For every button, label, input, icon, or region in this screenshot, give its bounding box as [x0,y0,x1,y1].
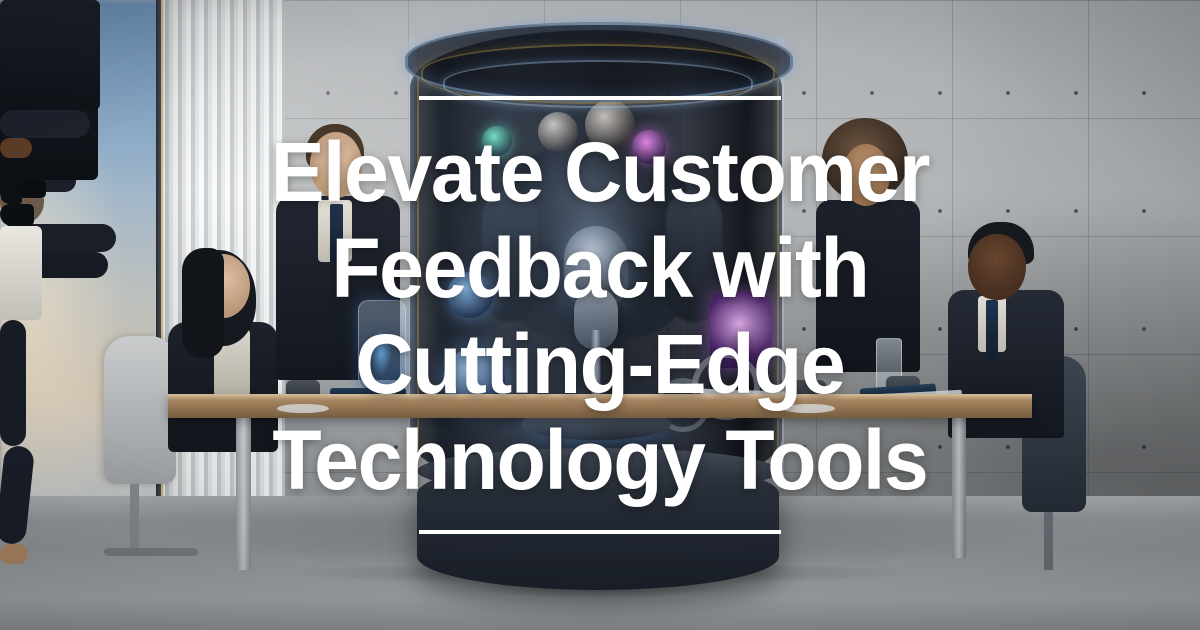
banner-canvas: Elevate Customer Feedback with Cutting-E… [0,0,1200,630]
divider-rule-top [419,96,781,100]
page-title: Elevate Customer Feedback with Cutting-E… [271,124,929,508]
divider-rule-bottom [419,530,781,534]
headline-overlay: Elevate Customer Feedback with Cutting-E… [0,0,1200,630]
